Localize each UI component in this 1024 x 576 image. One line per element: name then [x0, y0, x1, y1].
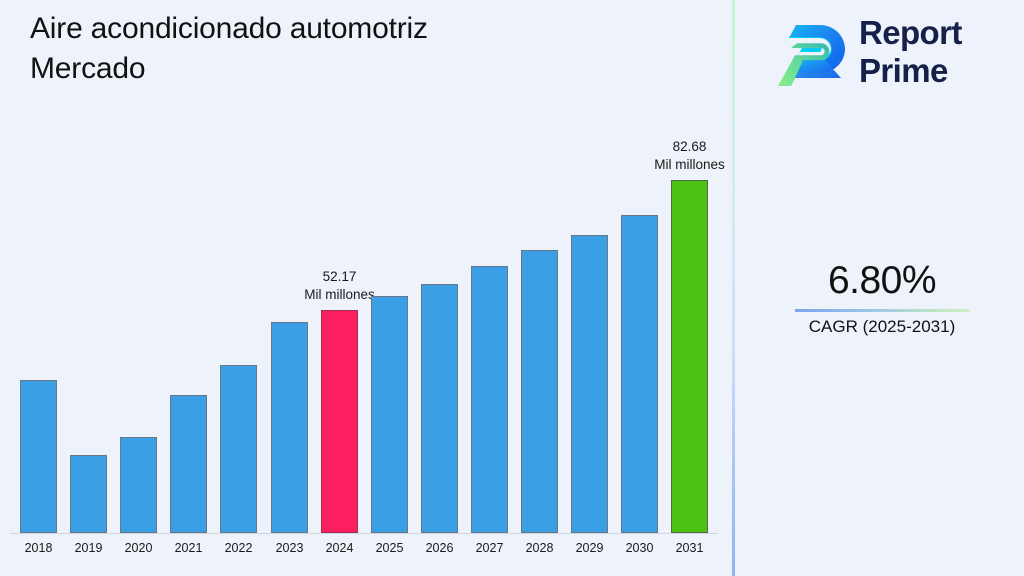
bar-2018 [20, 380, 57, 533]
bar-2030 [621, 215, 658, 533]
cagr-caption: CAGR (2025-2031) [757, 316, 1007, 338]
bar-2023 [271, 322, 308, 533]
bar-2028 [521, 250, 558, 533]
x-axis-line [10, 533, 718, 534]
x-tick-label-2020: 2020 [113, 540, 164, 556]
bar-chart: 201820192020202120222023202452.17Mil mil… [0, 0, 732, 576]
bar-2024 [321, 310, 358, 533]
x-tick-label-2023: 2023 [264, 540, 315, 556]
bar-2019 [70, 455, 107, 533]
bar-unit-2031: Mil millones [620, 156, 760, 174]
bar-2027 [471, 266, 508, 533]
bar-2021 [170, 395, 207, 533]
cagr-block: 6.80% CAGR (2025-2031) [757, 258, 1007, 338]
x-tick-label-2019: 2019 [63, 540, 114, 556]
brand-line-1: Report [859, 14, 962, 52]
x-tick-label-2028: 2028 [514, 540, 565, 556]
bar-2026 [421, 284, 458, 533]
bar-2031 [671, 180, 708, 533]
cagr-value: 6.80% [757, 258, 1007, 304]
x-tick-label-2024: 2024 [314, 540, 365, 556]
x-tick-label-2029: 2029 [564, 540, 615, 556]
x-tick-label-2030: 2030 [614, 540, 665, 556]
bar-value-label-2031: 82.68Mil millones [620, 138, 760, 174]
x-tick-label-2031: 2031 [664, 540, 715, 556]
cagr-divider [795, 309, 970, 312]
bar-2022 [220, 365, 257, 533]
x-tick-label-2022: 2022 [213, 540, 264, 556]
x-tick-label-2021: 2021 [163, 540, 214, 556]
bar-2025 [371, 296, 408, 533]
x-tick-label-2018: 2018 [13, 540, 64, 556]
bar-value-2024: 52.17 [270, 268, 410, 286]
brand-line-2: Prime [859, 52, 962, 90]
chart-infographic: Aire acondicionado automotriz Mercado 20… [0, 0, 1024, 576]
x-tick-label-2026: 2026 [414, 540, 465, 556]
bar-2029 [571, 235, 608, 533]
x-tick-label-2025: 2025 [364, 540, 415, 556]
report-prime-logo-mark-icon [775, 16, 851, 90]
bar-value-2031: 82.68 [620, 138, 760, 156]
x-tick-label-2027: 2027 [464, 540, 515, 556]
panel-divider [732, 0, 735, 576]
brand-logo: Report Prime [775, 14, 1005, 94]
bar-2020 [120, 437, 157, 533]
brand-logo-text: Report Prime [859, 14, 962, 90]
